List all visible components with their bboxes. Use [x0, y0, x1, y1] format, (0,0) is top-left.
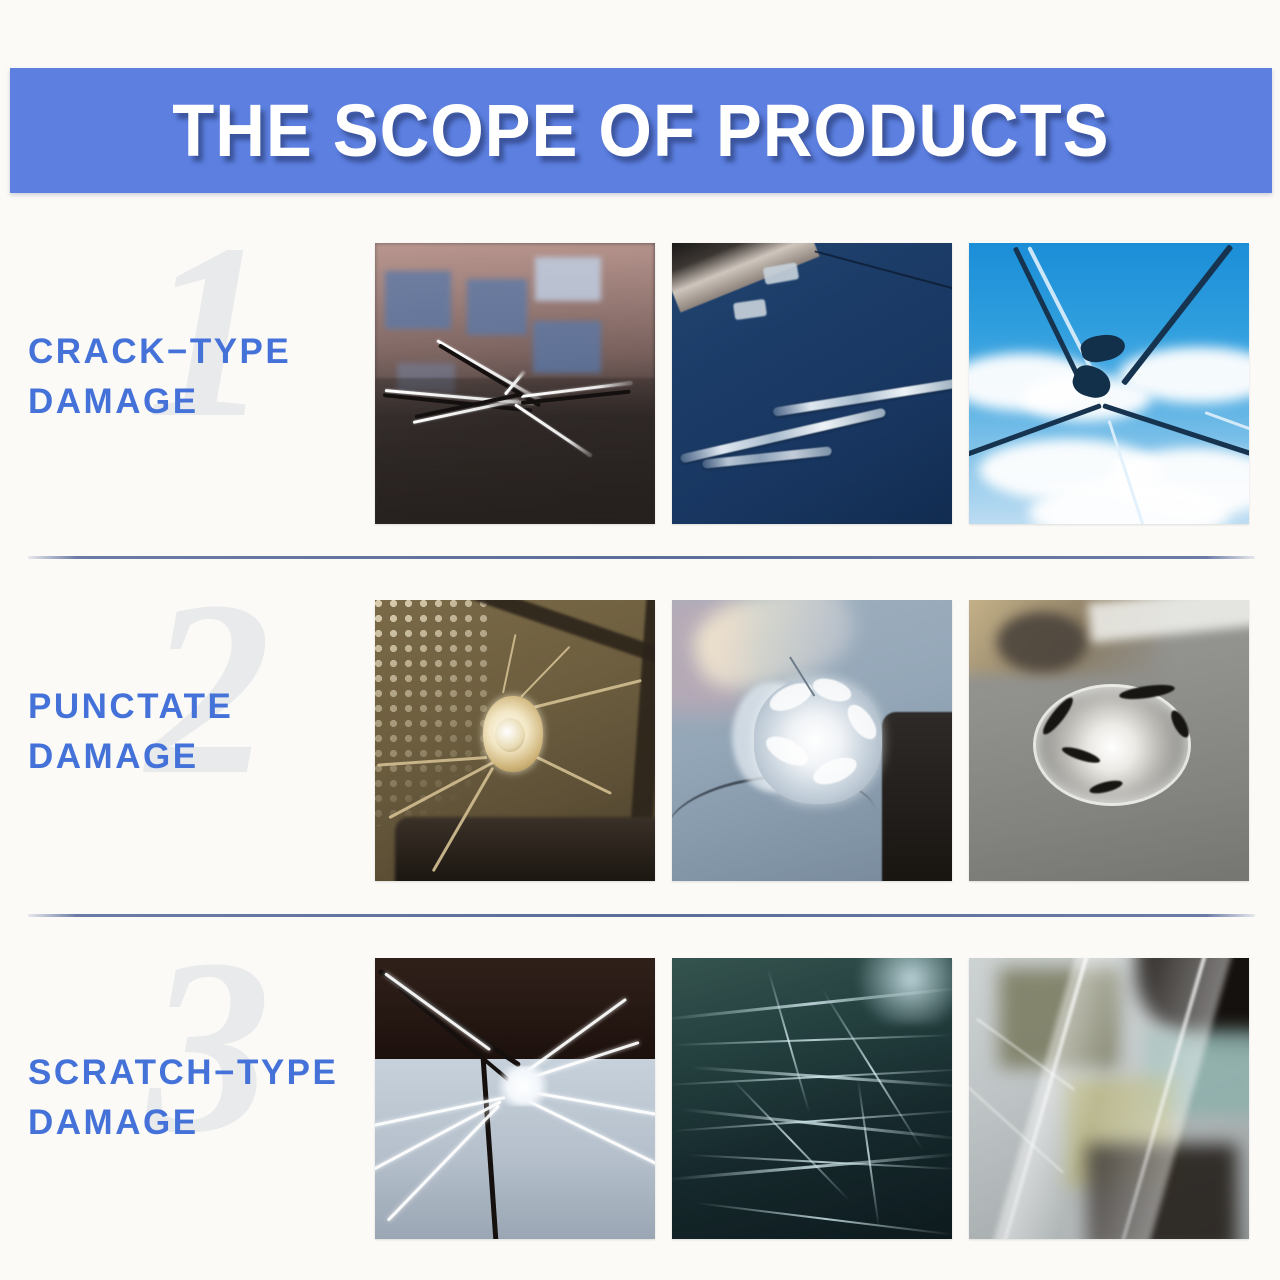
category-label-2: PUNCTATE DAMAGE: [28, 682, 233, 781]
photo-tile-scratch-3: [969, 958, 1249, 1239]
category-label-3-line2: DAMAGE: [28, 1098, 338, 1148]
category-label-3-line1: SCRATCH−TYPE: [28, 1048, 338, 1098]
category-row-crack: 1 CRACK−TYPE DAMAGE: [0, 215, 1280, 545]
photo-tile-scratch-2: [672, 958, 952, 1239]
photo-tile-punctate-1: [375, 600, 655, 881]
photo-tile-scratch-1: [375, 958, 655, 1239]
photo-tile-crack-2: [672, 243, 952, 524]
photo-tile-crack-3: [969, 243, 1249, 524]
infographic-page: THE SCOPE OF PRODUCTS 1 CRACK−TYPE DAMAG…: [0, 0, 1280, 1280]
category-label-2-line2: DAMAGE: [28, 732, 233, 782]
photo-tile-punctate-2: [672, 600, 952, 881]
category-label-group-2: 2 PUNCTATE DAMAGE: [28, 572, 368, 902]
category-row-punctate: 2 PUNCTATE DAMAGE: [0, 572, 1280, 902]
photo-tile-punctate-3: [969, 600, 1249, 881]
category-label-1-line2: DAMAGE: [28, 377, 291, 427]
page-title: THE SCOPE OF PRODUCTS: [172, 88, 1109, 173]
photo-grid-row-3: [375, 958, 1249, 1239]
category-label-2-line1: PUNCTATE: [28, 682, 233, 732]
photo-grid-row-2: [375, 600, 1249, 881]
header-banner: THE SCOPE OF PRODUCTS: [10, 68, 1272, 193]
category-row-scratch: 3 SCRATCH−TYPE DAMAGE: [0, 930, 1280, 1260]
category-label-3: SCRATCH−TYPE DAMAGE: [28, 1048, 338, 1147]
category-label-group-3: 3 SCRATCH−TYPE DAMAGE: [28, 930, 368, 1260]
category-label-1: CRACK−TYPE DAMAGE: [28, 327, 291, 426]
photo-grid-row-1: [375, 243, 1249, 524]
photo-tile-crack-1: [375, 243, 655, 524]
category-label-group-1: 1 CRACK−TYPE DAMAGE: [28, 215, 368, 545]
category-label-1-line1: CRACK−TYPE: [28, 327, 291, 377]
